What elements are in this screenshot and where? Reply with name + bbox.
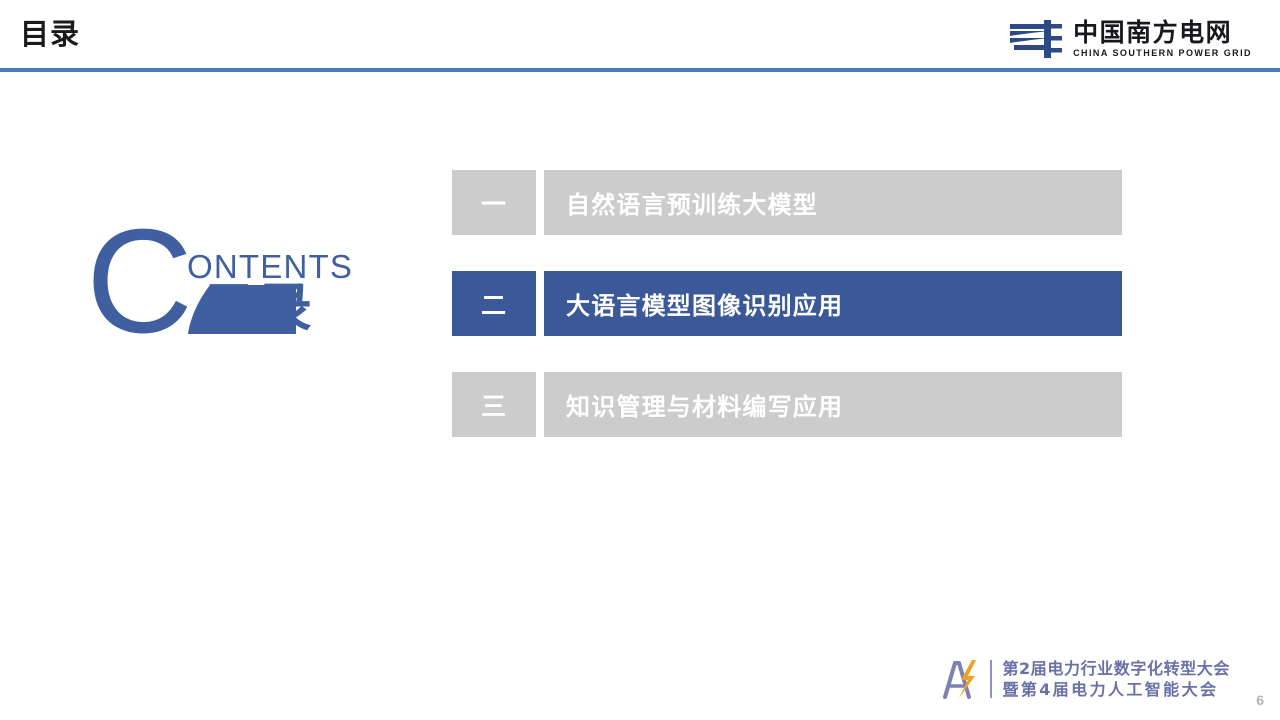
corporate-logo-text: 中国南方电网 CHINA SOUTHERN POWER GRID bbox=[1073, 19, 1252, 59]
page-number: 6 bbox=[1256, 692, 1264, 708]
agenda-item-3[interactable]: 三 知识管理与材料编写应用 bbox=[452, 372, 1122, 437]
agenda-item-2-label: 大语言模型图像识别应用 bbox=[544, 271, 1122, 336]
conference-name: 第2届电力行业数字化转型大会 暨第4届电力人工智能大会 bbox=[1002, 658, 1230, 700]
agenda-item-1-label: 自然语言预训练大模型 bbox=[544, 170, 1122, 235]
brand-name-en: CHINA SOUTHERN POWER GRID bbox=[1073, 47, 1252, 59]
contents-decoration: C ONTENTS 目录 bbox=[84, 222, 394, 347]
agenda-item-3-number: 三 bbox=[452, 372, 536, 437]
corporate-logo: 中国南方电网 CHINA SOUTHERN POWER GRID bbox=[1008, 18, 1252, 60]
agenda-item-1[interactable]: 一 自然语言预训练大模型 bbox=[452, 170, 1122, 235]
southern-power-grid-mark-icon bbox=[1008, 20, 1064, 58]
agenda-list: 一 自然语言预训练大模型 二 大语言模型图像识别应用 三 知识管理与材料编写应用 bbox=[452, 170, 1122, 437]
contents-initial-letter: C bbox=[86, 208, 193, 356]
contents-banner-icon bbox=[188, 285, 296, 334]
page-title: 目录 bbox=[20, 15, 80, 55]
agenda-item-2-number: 二 bbox=[452, 271, 536, 336]
agenda-item-1-number: 一 bbox=[452, 170, 536, 235]
conference-name-line1: 第2届电力行业数字化转型大会 bbox=[1002, 658, 1230, 679]
footer-logo-divider bbox=[990, 660, 992, 698]
conference-name-line2: 暨第4届电力人工智能大会 bbox=[1002, 679, 1230, 700]
conference-logo: 第2届电力行业数字化转型大会 暨第4届电力人工智能大会 bbox=[928, 656, 1230, 702]
slide-header: 目录 中国南方电网 CHINA SOUTHERN POWER GRID bbox=[0, 0, 1280, 68]
agenda-item-2[interactable]: 二 大语言模型图像识别应用 bbox=[452, 271, 1122, 336]
agenda-item-3-label: 知识管理与材料编写应用 bbox=[544, 372, 1122, 437]
brand-name-cn: 中国南方电网 bbox=[1073, 19, 1252, 46]
header-divider bbox=[0, 68, 1280, 72]
ai-lightning-icon bbox=[928, 657, 984, 701]
